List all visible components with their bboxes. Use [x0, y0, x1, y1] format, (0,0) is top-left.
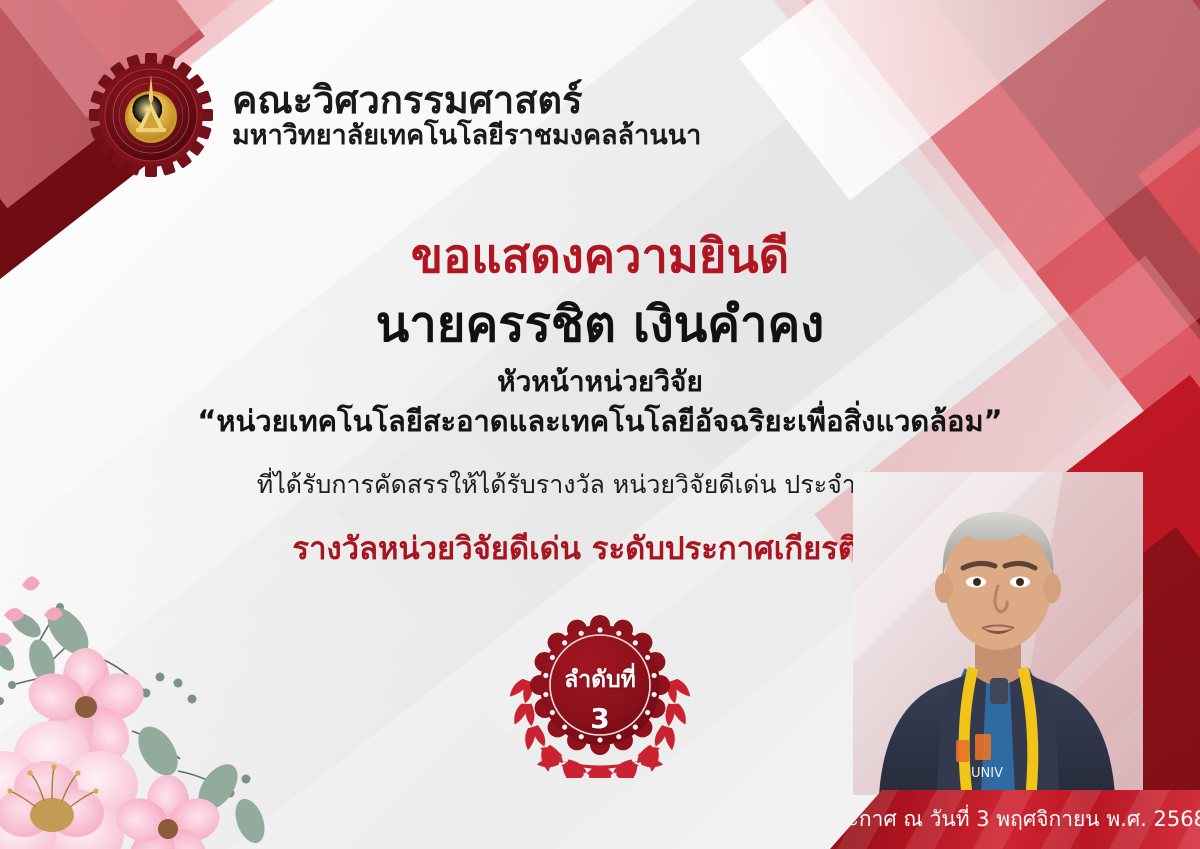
- rank-label: ลำดับที่: [480, 669, 720, 692]
- rank-number: 3: [480, 705, 720, 733]
- congratulations-heading: ขอแสดงความยินดี: [0, 228, 1200, 287]
- recipient-name: นายครรชิต เงินคำคง: [0, 293, 1200, 357]
- certificate-canvas: คณะวิศวกรรมศาสตร์ มหาวิทยาลัยเทคโนโลยีรา…: [0, 0, 1200, 849]
- university-name: มหาวิทยาลัยเทคโนโลยีราชมงคลล้านนา: [232, 122, 701, 151]
- recipient-role: หัวหน้าหน่วยวิจัย: [0, 364, 1200, 400]
- research-unit-name: “หน่วยเทคโนโลยีสะอาดและเทคโนโลยีอัจฉริยะ…: [0, 403, 1200, 441]
- svg-text:UNIV: UNIV: [971, 766, 1003, 781]
- rank-badge: ลำดับที่ 3: [480, 593, 720, 778]
- faculty-name: คณะวิศวกรรมศาสตร์: [232, 80, 701, 120]
- portrait-photo: UNIV: [853, 472, 1143, 795]
- floral-corner-decoration-icon: [0, 533, 322, 849]
- gear-emblem-logo-icon: [88, 52, 214, 178]
- certificate-header: คณะวิศวกรรมศาสตร์ มหาวิทยาลัยเทคโนโลยีรา…: [88, 52, 701, 178]
- announcement-date: ประกาศ ณ วันที่ 3 พฤศจิกายน พ.ศ. 2568: [823, 803, 1200, 836]
- announcement-footer: ประกาศ ณ วันที่ 3 พฤศจิกายน พ.ศ. 2568: [830, 790, 1200, 849]
